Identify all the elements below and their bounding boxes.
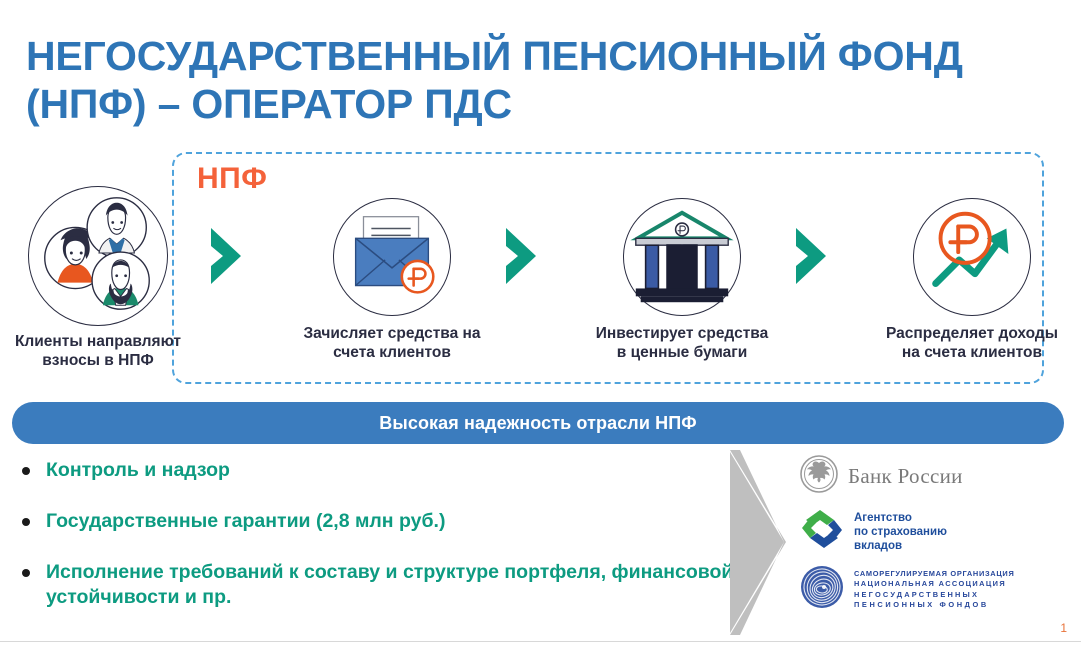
people-group-icon xyxy=(28,186,168,326)
page-title: НЕГОСУДАРСТВЕННЫЙ ПЕНСИОННЫЙ ФОНД (НПФ) … xyxy=(26,32,1026,128)
chevron-right-icon xyxy=(205,225,263,287)
page-number: 1 xyxy=(1060,621,1067,635)
flow-step-invest: Инвестирует средства в ценные бумаги xyxy=(592,198,772,362)
logo-group: Банк России Агентство по страхованию вкл… xyxy=(800,455,1070,624)
bullet-dot-icon xyxy=(22,569,30,577)
banner-text: Высокая надежность отрасли НПФ xyxy=(379,413,696,434)
asv-mark-icon xyxy=(800,508,844,555)
flow-step-caption: Зачисляет средства на счета клиентов xyxy=(302,324,482,362)
napf-text: САМОРЕГУЛИРУЕМАЯ ОРГАНИЗАЦИЯ НАЦИОНАЛЬНА… xyxy=(854,569,1014,611)
bank-of-russia-text: Банк России xyxy=(848,464,963,489)
flow-step-caption: Инвестирует средства в ценные бумаги xyxy=(592,324,772,362)
bullet-text: Контроль и надзор xyxy=(46,458,230,483)
deposit-insurance-agency-logo: Агентство по страхованию вкладов xyxy=(800,508,1070,555)
flow-step-caption: Распределяет доходы на счета клиентов xyxy=(882,324,1062,362)
slide-root: НЕГОСУДАРСТВЕННЫЙ ПЕНСИОННЫЙ ФОНД (НПФ) … xyxy=(0,0,1081,649)
chevron-right-icon xyxy=(500,225,558,287)
bank-of-russia-logo: Банк России xyxy=(800,455,1070,498)
list-item: Государственные гарантии (2,8 млн руб.) xyxy=(22,509,742,534)
process-flow: Клиенты направляют взносы в НПФ xyxy=(0,180,1081,390)
reliability-banner: Высокая надежность отрасли НПФ xyxy=(12,402,1064,444)
bullet-text: Государственные гарантии (2,8 млн руб.) xyxy=(46,509,445,534)
double-eagle-icon xyxy=(800,455,838,498)
list-item: Исполнение требований к составу и структ… xyxy=(22,560,742,610)
flow-step-distribute: Распределяет доходы на счета клиентов xyxy=(882,198,1062,362)
chevron-right-icon xyxy=(790,225,848,287)
envelope-ruble-icon xyxy=(333,198,451,316)
bullet-list: Контроль и надзор Государственные гарант… xyxy=(22,458,742,636)
napf-logo: САМОРЕГУЛИРУЕМАЯ ОРГАНИЗАЦИЯ НАЦИОНАЛЬНА… xyxy=(800,565,1070,614)
bank-building-icon xyxy=(623,198,741,316)
growth-chart-ruble-icon xyxy=(913,198,1031,316)
footer-divider xyxy=(0,641,1081,642)
bullet-dot-icon xyxy=(22,467,30,475)
list-item: Контроль и надзор xyxy=(22,458,742,483)
napf-spiral-icon xyxy=(800,565,844,614)
flow-step-clients: Клиенты направляют взносы в НПФ xyxy=(10,186,186,370)
flow-step-credit: Зачисляет средства на счета клиентов xyxy=(302,198,482,362)
bullet-dot-icon xyxy=(22,518,30,526)
bullet-text: Исполнение требований к составу и структ… xyxy=(46,560,742,610)
flow-step-caption: Клиенты направляют взносы в НПФ xyxy=(10,332,186,370)
gray-arrow-icon xyxy=(726,450,796,635)
asv-text: Агентство по страхованию вкладов xyxy=(854,511,947,553)
